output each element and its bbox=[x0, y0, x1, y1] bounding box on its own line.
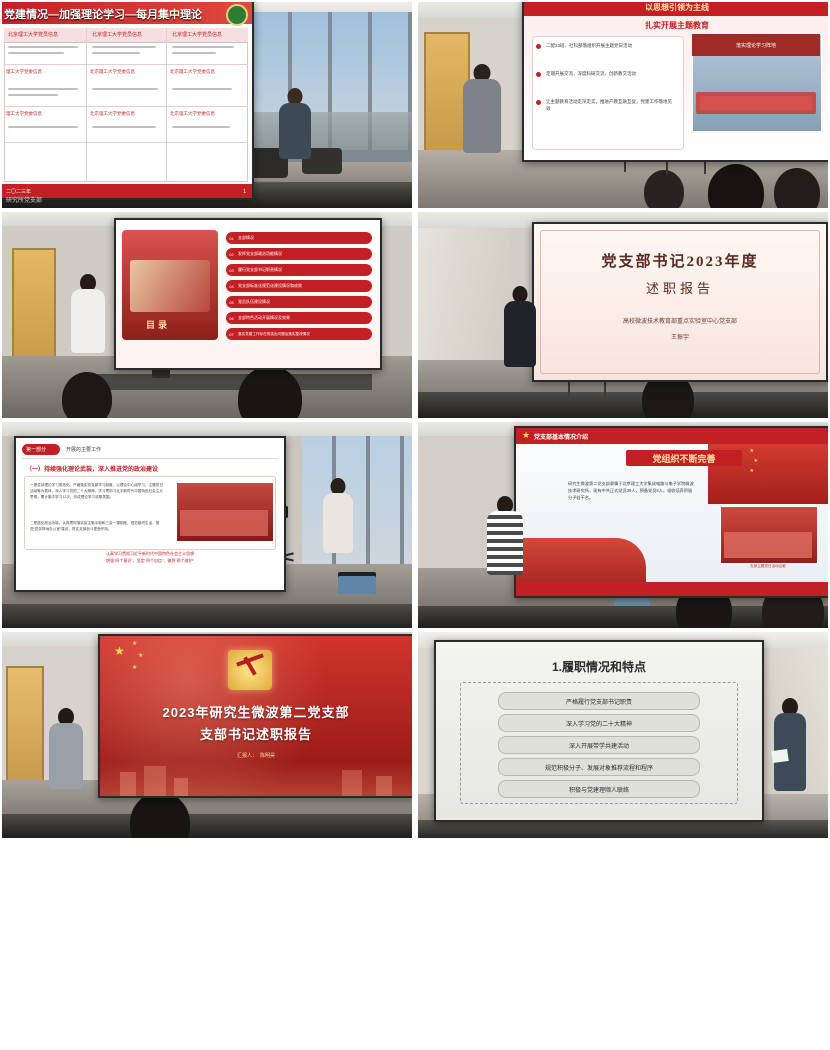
flag-star-icon: ★ bbox=[114, 644, 125, 658]
slide7-presenter-label: 汇报人： bbox=[237, 752, 257, 759]
flag-star-icon: ★ bbox=[132, 664, 137, 671]
slide1-row1-c2: 北京理工大学党委信息 bbox=[90, 68, 162, 75]
slide8-item-4: 规范积极分子、发展对象推荐流程和程序 bbox=[498, 758, 700, 776]
slide3-item-6: 支部特色活动开展情况及效果 bbox=[226, 312, 372, 324]
slide3-item-5-text: 党员队伍建设情况 bbox=[238, 299, 270, 305]
projection-screen-7: ★ ★ ★ ★ 2023年研究生微波第二党支部 支部书记述职报告 汇报人： 陈明… bbox=[98, 634, 412, 798]
slide1-title: 党建情况—加强理论学习—每月集中理论 bbox=[4, 6, 202, 22]
slide7-subtitle: 支部书记述职报告 bbox=[100, 724, 412, 743]
slide1-col-2: 北京理工大学党员信息 bbox=[92, 31, 142, 38]
slide3-item-1-text: 支部情况 bbox=[238, 235, 254, 241]
photo-2: 以思想引领为主线 扎实开展主题教育 二配23班、社科部落组织开展主题党日活动 定… bbox=[418, 2, 828, 208]
slide3-num-6: 06 bbox=[227, 314, 236, 323]
slide5-highlight: 认真学习贯彻习近平新时代中国特色社会主义思想 增强“四个意识”、坚定“四个自信”… bbox=[30, 550, 270, 564]
presenter-6 bbox=[484, 496, 526, 588]
presenter-8 bbox=[770, 698, 810, 808]
slide3-num-2: 02 bbox=[227, 250, 236, 259]
photo-6: ★ 党支部基本情况介绍 ★ ★ ★ ★ 党组织不断完善 研究生微波第二党支部隶属… bbox=[418, 422, 828, 628]
slide2-bullet-1: 二配23班、社科部落组织开展主题党日活动 bbox=[546, 42, 674, 49]
flag-star-icon: ★ bbox=[750, 468, 754, 474]
photo-8: 1.履职情况和特点 严格履行党支部书记职责 深入学习党的二十大精神 深入开展带学… bbox=[418, 632, 828, 838]
slide3-item-2-text: 发挥党支部政治功能情况 bbox=[238, 251, 282, 257]
slide2-bullet-2: 定期开展交流，深度科研交流、创新教交活动 bbox=[546, 70, 674, 77]
slide5-section-tag: 第一部分 bbox=[26, 446, 46, 453]
slide1-footer-left: 二〇二三年 bbox=[6, 188, 31, 195]
slide3-num-3: 03 bbox=[227, 266, 236, 275]
photo-3: 目录 支部情况 01 发挥党支部政治功能情况 02 履行党支部书记职责情况 03… bbox=[2, 212, 412, 418]
flag-star-icon: ★ bbox=[750, 448, 754, 454]
slide5-para-1: 一是坚持理论学习常态化。严格落实党支部学习制度，以理论中心组学习、主题党日活动等… bbox=[30, 482, 166, 500]
projection-screen-8: 1.履职情况和特点 严格履行党支部书记职责 深入学习党的二十大精神 深入开展带学… bbox=[434, 640, 764, 822]
slide2-banner: 以思想引领为主线 bbox=[524, 2, 828, 13]
projection-screen-1: 党建情况—加强理论学习—每月集中理论 北京理工大学党员信息 北京理工大学党员信息… bbox=[2, 2, 254, 200]
slide4-presenter: 王振宇 bbox=[534, 332, 826, 341]
slide2-photo-label: 落实理论学习阵地 bbox=[692, 34, 820, 56]
slide1-row1-c3: 北京理工大学党委信息 bbox=[170, 68, 242, 75]
photo-grid: 党建情况—加强理论学习—每月集中理论 北京理工大学党员信息 北京理工大学党员信息… bbox=[0, 0, 830, 1050]
photo-5: 第一部分 开展的主要工作 （一）持续强化理论武装，深入推进党的政治建设 一是坚持… bbox=[2, 422, 412, 628]
slide2-bullet-3: 让主题教育活动走深走实，推进产教互融互促，党建工作落地见效 bbox=[546, 98, 674, 112]
slide3-num-1: 01 bbox=[227, 234, 236, 243]
projection-screen-4: 党支部书记2023年度 述职报告 高校微波技术教育部重点实验室中心党支部 王振宇 bbox=[532, 222, 828, 382]
audience-head bbox=[62, 372, 112, 418]
photo-1-caption: 研究所党支部 bbox=[6, 195, 42, 204]
slide3-item-4: 党支部标准化规范化建设情况和成效 bbox=[226, 280, 372, 292]
slide1-row2-c1: 理工大学党委信息 bbox=[6, 110, 84, 117]
slide1-col-3: 北京理工大学党员信息 bbox=[172, 31, 222, 38]
slide3-item-4-text: 党支部标准化规范化建设情况和成效 bbox=[238, 283, 302, 289]
projection-screen-2: 以思想引领为主线 扎实开展主题教育 二配23班、社科部落组织开展主题党日活动 定… bbox=[522, 2, 828, 162]
slide6-tag: 党支部基本情况介绍 bbox=[534, 432, 588, 441]
slide3-num-7: 07 bbox=[227, 330, 236, 339]
slide1-col-1: 北京理工大学党员信息 bbox=[8, 31, 58, 38]
slide3-num-5: 05 bbox=[227, 298, 236, 307]
presenter-4 bbox=[500, 286, 540, 376]
slide7-presenter: 陈明昊 bbox=[260, 752, 275, 759]
projection-screen-5: 第一部分 开展的主要工作 （一）持续强化理论武装，深入推进党的政治建设 一是坚持… bbox=[14, 436, 286, 592]
slide1-row1-c1: 理工大学党委信息 bbox=[6, 68, 84, 75]
door-3 bbox=[12, 248, 56, 372]
slide3-title: 目录 bbox=[146, 318, 170, 331]
slide2-subtitle: 扎实开展主题教育 bbox=[524, 20, 828, 31]
presenter-7 bbox=[46, 708, 86, 800]
projection-screen-6: ★ 党支部基本情况介绍 ★ ★ ★ ★ 党组织不断完善 研究生微波第二党支部隶属… bbox=[514, 426, 828, 598]
flag-star-icon: ★ bbox=[138, 652, 143, 659]
flag-star-icon: ★ bbox=[132, 640, 137, 647]
slide1-footer-page: 1 bbox=[243, 189, 246, 195]
slide6-photo-caption: 支部主题党日活动合影 bbox=[720, 564, 816, 569]
slide3-item-5: 党员队伍建设情况 bbox=[226, 296, 372, 308]
photo-1: 党建情况—加强理论学习—每月集中理论 北京理工大学党员信息 北京理工大学党员信息… bbox=[2, 2, 412, 208]
door-7 bbox=[6, 666, 44, 786]
star-icon: ★ bbox=[522, 430, 530, 441]
slide5-heading: （一）持续强化理论武装，深入推进党的政治建设 bbox=[26, 464, 158, 473]
slide6-title: 党组织不断完善 bbox=[626, 452, 742, 465]
photo-4: 党支部书记2023年度 述职报告 高校微波技术教育部重点实验室中心党支部 王振宇 bbox=[418, 212, 828, 418]
slide8-title: 1.履职情况和特点 bbox=[436, 658, 762, 675]
slide6-body: 研究生微波第二党支部隶属于北京理工大学集成电路与电子学院微波技术研究所，现有中共… bbox=[568, 480, 696, 501]
slide3-item-2: 发挥党支部政治功能情况 bbox=[226, 248, 372, 260]
slide1-row2-c3: 北京理工大学党委信息 bbox=[170, 110, 242, 117]
presenter-3 bbox=[68, 274, 108, 374]
slide3-item-6-text: 支部特色活动开展情况及效果 bbox=[238, 315, 290, 321]
slide3-num-4: 04 bbox=[227, 282, 236, 291]
slide8-item-3: 深入开展带学共建活动 bbox=[498, 736, 700, 754]
slide4-byline: 高校微波技术教育部重点实验室中心党支部 bbox=[534, 316, 826, 325]
photo-7: ★ ★ ★ ★ 2023年研究生微波第二党支部 支部书记述职报告 汇报人： 陈明… bbox=[2, 632, 412, 838]
slide3-item-3: 履行党支部书记职责情况 bbox=[226, 264, 372, 276]
projection-screen-3: 目录 支部情况 01 发挥党支部政治功能情况 02 履行党支部书记职责情况 03… bbox=[114, 218, 382, 370]
slide3-item-3-text: 履行党支部书记职责情况 bbox=[238, 267, 282, 273]
slide7-title: 2023年研究生微波第二党支部 bbox=[100, 702, 412, 721]
slide8-item-2: 深入学习党的二十大精神 bbox=[498, 714, 700, 732]
slide1-row2-c2: 北京理工大学党委信息 bbox=[90, 110, 162, 117]
presenter-1 bbox=[278, 88, 312, 158]
slide4-title: 党支部书记2023年度 bbox=[534, 250, 826, 271]
slide8-item-5: 积极与党建理顺人联络 bbox=[498, 780, 700, 798]
presenter-2 bbox=[462, 64, 502, 160]
slide4-subtitle: 述职报告 bbox=[534, 278, 826, 297]
flag-star-icon: ★ bbox=[754, 458, 758, 464]
presenter-5 bbox=[320, 478, 356, 574]
slide3-item-7-text: 落实党建工作存在的突出问题及落实整改情况 bbox=[238, 332, 310, 337]
slide5-para-2: 二是强化政治功能。认真贯彻落实民主集中制和三会一课制度，规范组织生活，推进“党务… bbox=[30, 520, 166, 532]
slide3-item-7: 落实党建工作存在的突出问题及落实整改情况 bbox=[226, 328, 372, 340]
slide8-item-1: 严格履行党支部书记职责 bbox=[498, 692, 700, 710]
slide5-section-title: 开展的主要工作 bbox=[66, 446, 101, 453]
slide3-item-1: 支部情况 bbox=[226, 232, 372, 244]
audience-head bbox=[644, 170, 684, 208]
